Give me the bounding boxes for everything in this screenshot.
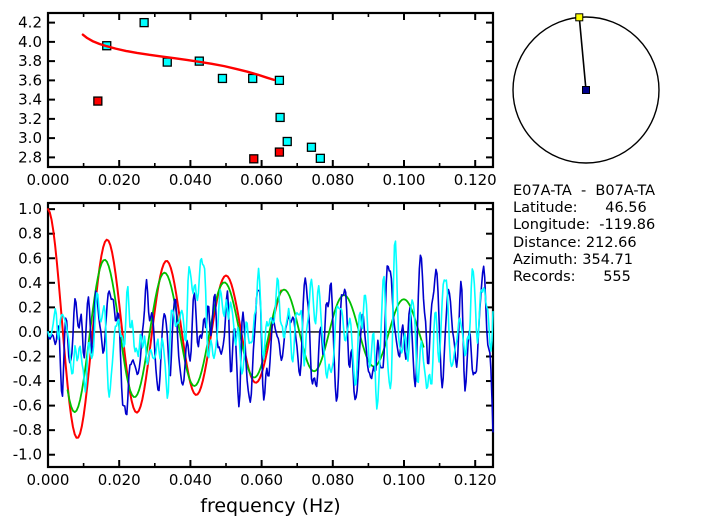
spectra-xticklabel-0: 0.000 (27, 471, 70, 489)
spectra-yticklabel-8: 0.6 (18, 249, 42, 267)
info-line-pair: E07A-TA - B07A-TA (513, 183, 699, 200)
dispersion-yticklabel-5: 3.8 (18, 52, 42, 70)
station-info-panel: E07A-TA - B07A-TALatitude: 46.56Longitud… (513, 183, 699, 286)
spectra-xticklabel-6: 0.120 (454, 471, 497, 489)
dispersion-xticklabel-1: 0.020 (98, 171, 141, 189)
spectra-yticklabel-6: 0.2 (18, 298, 42, 316)
dispersion-red-picks-marker (250, 155, 258, 163)
dispersion-xticklabel-2: 0.040 (169, 171, 212, 189)
dispersion-xticklabel-3: 0.060 (240, 171, 283, 189)
info-line-azimuth: Azimuth: 354.71 (513, 252, 699, 269)
dispersion-cyan-picks-marker (316, 154, 324, 162)
reference-station-marker (583, 87, 590, 94)
dispersion-xticklabel-6: 0.120 (454, 171, 497, 189)
spectra-yticklabel-1: -0.8 (13, 421, 42, 439)
dispersion-yticklabel-6: 4.0 (18, 33, 42, 51)
spectra-xaxis-title: frequency (Hz) (200, 495, 340, 517)
dispersion-yticklabel-3: 3.4 (18, 91, 42, 109)
dispersion-cyan-picks-marker (275, 76, 283, 84)
dispersion-cyan-picks-marker (276, 113, 284, 121)
info-line-distance: Distance: 212.66 (513, 235, 699, 252)
spectra-yticklabel-7: 0.4 (18, 274, 42, 292)
azimuth-ray (579, 17, 586, 90)
figure-canvas: 0.0000.0200.0400.0600.0800.1000.1202.83.… (0, 0, 702, 519)
dispersion-xticklabel-4: 0.080 (311, 171, 354, 189)
dispersion-xticklabel-0: 0.000 (27, 171, 70, 189)
spectra-yticklabel-0: -1.0 (13, 446, 42, 464)
dispersion-xticklabel-5: 0.100 (383, 171, 426, 189)
spectra-xticklabel-3: 0.060 (240, 471, 283, 489)
spectra-yticklabel-10: 1.0 (18, 200, 42, 218)
spectra-xticklabel-4: 0.080 (311, 471, 354, 489)
dispersion-yticklabel-4: 3.6 (18, 71, 42, 89)
info-line-longitude: Longitude: -119.86 (513, 217, 699, 234)
dispersion-yticklabel-1: 3.0 (18, 129, 42, 147)
dispersion-red-picks-marker (275, 148, 283, 156)
spectra-xticklabel-1: 0.020 (98, 471, 141, 489)
dispersion-cyan-picks-marker (249, 74, 257, 82)
info-line-records: Records: 555 (513, 269, 699, 286)
dispersion-cyan-picks-marker (307, 143, 315, 151)
spectra-xticklabel-5: 0.100 (383, 471, 426, 489)
dispersion-cyan-picks-marker (218, 74, 226, 82)
spectra-xticklabel-2: 0.040 (169, 471, 212, 489)
dispersion-model-curve-line (83, 35, 274, 80)
dispersion-plot-frame (48, 13, 493, 167)
dispersion-red-picks-marker (94, 97, 102, 105)
dispersion-cyan-picks-marker (140, 19, 148, 27)
dispersion-yticklabel-7: 4.2 (18, 14, 42, 32)
dispersion-cyan-picks-marker (283, 137, 291, 145)
spectra-yticklabel-3: -0.4 (13, 372, 42, 390)
remote-station-marker (576, 14, 583, 21)
spectra-yticklabel-5: 0.0 (18, 323, 42, 341)
spectra-yticklabel-2: -0.6 (13, 397, 42, 415)
dispersion-yticklabel-2: 3.2 (18, 110, 42, 128)
spectra-yticklabel-4: -0.2 (13, 347, 42, 365)
dispersion-yticklabel-0: 2.8 (18, 148, 42, 166)
info-line-latitude: Latitude: 46.56 (513, 200, 699, 217)
dispersion-cyan-picks-marker (163, 58, 171, 66)
spectra-yticklabel-9: 0.8 (18, 225, 42, 243)
spectra-blue-observed-line (48, 255, 493, 431)
